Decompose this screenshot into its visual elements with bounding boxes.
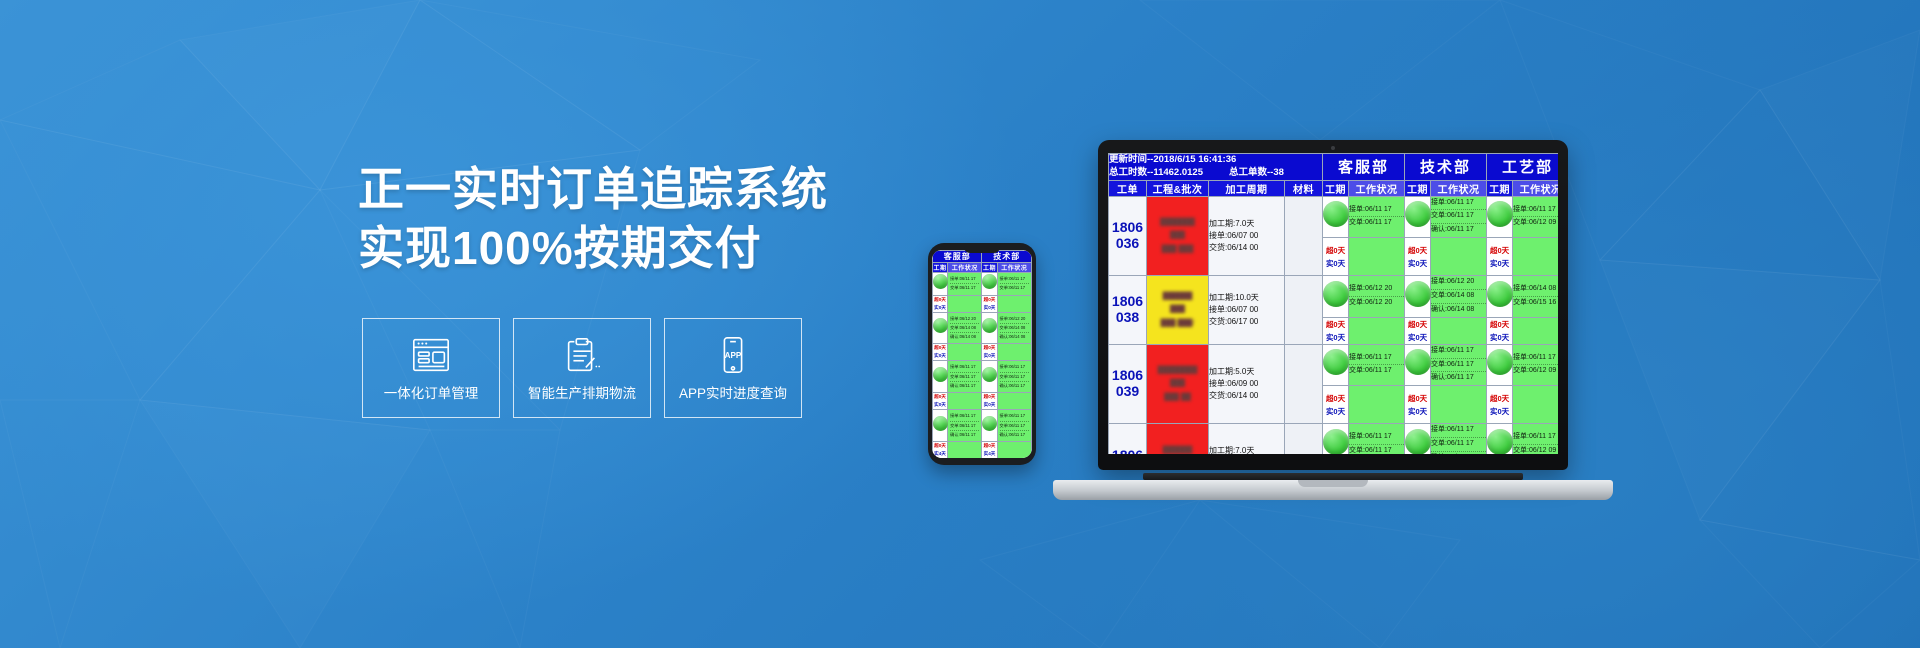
headline-block: 正一实时订单追踪系统 实现100%按期交付 xyxy=(358,160,918,278)
dept-header-0[interactable]: 客服部 xyxy=(1323,154,1405,181)
phone-status-line-1: 交单:06/11 17 xyxy=(1000,422,1029,431)
status-line-0: 接单:06/11 17 xyxy=(1349,204,1404,218)
status-circle-green-icon xyxy=(1487,201,1513,227)
laptop-hinge xyxy=(1143,473,1523,480)
dept-status-cell-1[interactable]: 接单:06/12 20交单:06/14 08确认:06/14 08 xyxy=(1431,276,1487,318)
phone-status-line-2: 确认:06/11 17 xyxy=(1000,382,1029,390)
total-orders-text: 总工单数--38 xyxy=(1229,167,1284,180)
cycle-line-2: 交货:06/14 00 xyxy=(1209,242,1284,254)
dept-status-cell-2[interactable]: 接单:06/11 17交单:06/12 09 xyxy=(1513,424,1558,454)
dept-duration-cell-1[interactable] xyxy=(1405,424,1431,454)
dept-duration-cell-0[interactable] xyxy=(1323,196,1349,238)
phone-status-line-0: 接单:06/11 17 xyxy=(950,275,979,284)
work-order-cell[interactable]: 1806 039 xyxy=(1109,344,1147,424)
headline-line-2: 实现100%按期交付 xyxy=(358,219,918,278)
cycle-line-0: 加工期:7.0天 xyxy=(1209,445,1284,454)
project-batch-cell[interactable]: ████████████ ███/ xyxy=(1147,276,1209,345)
phone-status-line-1: 交单:06/14 08 xyxy=(950,324,979,333)
dept-status-cell-1[interactable]: 接单:06/11 17交单:06/11 17确认:06/11 17 xyxy=(1431,196,1487,238)
laptop-base xyxy=(1053,480,1613,500)
phone-status-line-1: 交单:06/14 08 xyxy=(1000,324,1029,333)
phone-table-row[interactable]: 接单:06/11 17交单:06/11 17确认:06/11 17 接单:06/… xyxy=(933,410,1032,442)
dept-status-cell-0[interactable]: 接单:06/11 17交单:06/11 17 xyxy=(1349,344,1405,386)
dept-status-cell-0[interactable]: 接单:06/12 20交单:06/12 20 xyxy=(1349,276,1405,318)
dept-status-cell-1[interactable]: 接单:06/11 17交单:06/11 17确认:06/11 17 xyxy=(1431,424,1487,454)
phone-status-cell-1[interactable]: 接单:06/11 17交单:06/11 17确认:06/11 17 xyxy=(997,410,1031,442)
actual-days-badge: 实0天 xyxy=(1405,405,1430,418)
status-circle-green-icon xyxy=(982,367,997,382)
status-circle-green-icon xyxy=(1405,349,1431,375)
actual-days-badge: 实0天 xyxy=(1487,331,1512,344)
window-list-icon xyxy=(410,335,452,375)
over-badge-cell-2: 超0天 实0天 xyxy=(1487,317,1513,344)
phone-dashboard: 客服部技术部工期工作状况工期工作状况 接单:06/11 17交单:06/11 1… xyxy=(932,250,1032,458)
processing-cycle-cell[interactable]: 加工期:7.0天接单:06/07 00交货:06/14 00 xyxy=(1209,196,1285,276)
status-line-1: 交单:06/11 17 xyxy=(1431,438,1486,452)
over-days-badge: 超0天 xyxy=(1323,392,1348,405)
laptop-lid: 更新时间--2018/6/15 16:41:36 总工时数--11462.012… xyxy=(1098,140,1568,470)
status-line-1: 交单:06/11 17 xyxy=(1431,359,1486,373)
over-days-badge: 超0天 xyxy=(1323,318,1348,331)
status-line-0: 接单:06/12 20 xyxy=(1349,283,1404,297)
phone-status-line-1: 交单:06/11 17 xyxy=(950,373,979,382)
phone-over-badge-cell-1: 超0天 实4天 xyxy=(982,442,997,458)
status-line-1: 交单:06/11 17 xyxy=(1349,217,1404,230)
status-line-1: 交单:06/15 16 xyxy=(1513,297,1558,310)
phone-duration-cell-1[interactable] xyxy=(982,361,997,393)
status-circle-green-icon xyxy=(982,416,997,431)
over-days-badge: 超0天 xyxy=(1487,244,1512,257)
phone-duration-cell-0[interactable] xyxy=(933,361,948,393)
status-circle-green-icon xyxy=(1487,349,1513,375)
status-line-1: 交单:06/12 20 xyxy=(1349,297,1404,310)
col-header-3[interactable]: 材料 xyxy=(1285,180,1323,196)
phone-over-badge-cell-1: 超0天 实0天 xyxy=(982,344,997,361)
status-circle-green-icon xyxy=(1323,349,1349,375)
col-header-0-1[interactable]: 工作状况 xyxy=(1349,180,1405,196)
cycle-line-2: 交货:06/17 00 xyxy=(1209,316,1284,328)
phone-status-line-0: 接单:06/11 17 xyxy=(950,412,979,421)
status-badge-filler-2 xyxy=(1513,386,1558,424)
work-order-suffix: 039 xyxy=(1109,384,1146,400)
status-circle-green-icon xyxy=(933,274,948,289)
table-row[interactable]: 1806 039 ██████████████ ██ 加工期:5.0天接单:06… xyxy=(1109,344,1559,386)
dept-duration-cell-2[interactable] xyxy=(1487,276,1513,318)
status-line-1: 交单:06/12 09 xyxy=(1513,365,1558,378)
cycle-line-0: 加工期:7.0天 xyxy=(1209,218,1284,230)
project-batch-text: █████████████ ███ xyxy=(1147,212,1208,260)
status-circle-green-icon xyxy=(1487,429,1513,454)
feature-box-list: 一体化订单管理 智能生产排期物流 xyxy=(362,318,802,418)
actual-days-badge: 实0天 xyxy=(1323,331,1348,344)
phone-table-row[interactable]: 接单:06/12 20交单:06/14 08确认:06/14 08 接单:06/… xyxy=(933,312,1032,344)
phone-status-line-0: 接单:06/11 17 xyxy=(1000,275,1029,284)
phone-over-badge-cell-0: 超0天 实0天 xyxy=(933,344,948,361)
status-circle-green-icon xyxy=(933,416,948,431)
project-batch-text: ████████████ ███/ xyxy=(1147,286,1208,334)
project-batch-cell[interactable]: █████████████ ███ xyxy=(1147,196,1209,276)
phone-status-line-1: 交单:06/11 17 xyxy=(1000,373,1029,382)
processing-cycle-cell[interactable]: 加工期:5.0天接单:06/09 00交货:06/14 00 xyxy=(1209,344,1285,424)
phone-status-line-0: 接单:06/11 17 xyxy=(950,363,979,372)
laptop-mockup: 更新时间--2018/6/15 16:41:36 总工时数--11462.012… xyxy=(1053,140,1613,500)
phone-actual-days-badge: 实4天 xyxy=(982,450,996,458)
phone-status-cell-0[interactable]: 接单:06/11 17交单:06/11 17确认:06/11 17 xyxy=(948,361,982,393)
headline-line-1: 正一实时订单追踪系统 xyxy=(358,160,918,219)
work-order-suffix: 038 xyxy=(1109,310,1146,326)
status-circle-green-icon xyxy=(1323,429,1349,454)
phone-col-header-1-1[interactable]: 工作状况 xyxy=(997,263,1031,273)
over-days-badge: 超0天 xyxy=(1405,392,1430,405)
work-order-prefix: 1806 xyxy=(1109,294,1146,310)
over-badge-cell-0: 超0天 实0天 xyxy=(1323,317,1349,344)
status-line-2: 确认:06/11 17 xyxy=(1431,224,1486,237)
status-line-1: 交单:06/12 09 xyxy=(1513,217,1558,230)
dept-duration-cell-1[interactable] xyxy=(1405,344,1431,386)
phone-duration-cell-1[interactable] xyxy=(982,312,997,344)
work-order-prefix: 1806 xyxy=(1109,220,1146,236)
processing-cycle-cell[interactable]: 加工期:7.0天接单:06/08 00交货:06/15 00 xyxy=(1209,424,1285,454)
phone-over-badge-cell-0: 超0天 实4天 xyxy=(933,442,948,458)
status-line-0: 接单:06/12 20 xyxy=(1431,276,1486,290)
over-days-badge: 超0天 xyxy=(1405,318,1430,331)
work-order-prefix: 1806 xyxy=(1109,448,1146,454)
phone-status-line-0: 接单:06/12 20 xyxy=(950,315,979,324)
laptop-base-notch xyxy=(1298,480,1368,487)
phone-actual-days-badge: 实0天 xyxy=(982,401,996,409)
table-row[interactable]: 1806 040 ████████████ ███ 加工期:7.0天接单:06/… xyxy=(1109,424,1559,454)
phone-badge-filler-1 xyxy=(997,344,1031,361)
table-meta-row: 更新时间--2018/6/15 16:41:36 总工时数--11462.012… xyxy=(1109,154,1559,181)
table-column-header-row: 工单工程&批次加工周期材料工期工作状况工期工作状况工期工作状况工期工作状况工期工… xyxy=(1109,180,1559,196)
svg-text:APP: APP xyxy=(725,350,742,359)
promo-banner: 正一实时订单追踪系统 实现100%按期交付 一体化订单管理 xyxy=(0,0,1920,648)
status-line-1: 交单:06/12 09 xyxy=(1513,445,1558,454)
material-cell[interactable] xyxy=(1285,276,1323,345)
phone-actual-days-badge: 实0天 xyxy=(933,352,947,360)
status-badge-filler-0 xyxy=(1349,238,1405,276)
work-order-cell[interactable]: 1806 038 xyxy=(1109,276,1147,345)
processing-cycle-cell[interactable]: 加工期:10.0天接单:06/07 00交货:06/17 00 xyxy=(1209,276,1285,345)
status-circle-green-icon xyxy=(1405,281,1431,307)
dept-duration-cell-0[interactable] xyxy=(1323,344,1349,386)
phone-status-line-1: 交单:06/11 17 xyxy=(950,284,979,292)
dept-duration-cell-2[interactable] xyxy=(1487,344,1513,386)
dept-duration-cell-2[interactable] xyxy=(1487,196,1513,238)
col-header-2-0[interactable]: 工期 xyxy=(1487,180,1513,196)
dept-header-2[interactable]: 工艺部 xyxy=(1487,154,1558,181)
status-line-0: 接单:06/11 17 xyxy=(1349,431,1404,445)
phone-screen: 客服部技术部工期工作状况工期工作状况 接单:06/11 17交单:06/11 1… xyxy=(932,250,1032,458)
phone-status-line-0: 接单:06/11 17 xyxy=(1000,412,1029,421)
status-line-0: 接单:06/11 17 xyxy=(1513,352,1558,366)
over-badge-cell-1: 超0天 实0天 xyxy=(1405,238,1431,276)
actual-days-badge: 实0天 xyxy=(1405,257,1430,270)
phone-badge-filler-0 xyxy=(948,295,982,312)
dept-duration-cell-0[interactable] xyxy=(1323,276,1349,318)
status-circle-green-icon xyxy=(933,367,948,382)
over-badge-cell-1: 超0天 实0天 xyxy=(1405,386,1431,424)
phone-over-days-badge: 超0天 xyxy=(982,344,996,352)
status-circle-green-icon xyxy=(1405,429,1431,454)
phone-duration-cell-0[interactable] xyxy=(933,312,948,344)
phone-over-days-badge: 超0天 xyxy=(982,393,996,401)
phone-over-days-badge: 超0天 xyxy=(933,393,947,401)
status-line-0: 接单:06/11 17 xyxy=(1431,424,1486,438)
cycle-line-1: 接单:06/07 00 xyxy=(1209,230,1284,242)
status-line-2: 确认:06/14 08 xyxy=(1431,304,1486,317)
status-line-1: 交单:06/11 17 xyxy=(1349,445,1404,454)
dept-status-cell-1[interactable]: 接单:06/11 17交单:06/11 17确认:06/11 17 xyxy=(1431,344,1487,386)
phone-over-badge-cell-1: 超0天 实0天 xyxy=(982,295,997,312)
phone-badge-row: 超0天 实0天 超0天 实0天 xyxy=(933,393,1032,410)
phone-status-cell-1[interactable]: 接单:06/11 17交单:06/11 17 xyxy=(997,273,1031,296)
over-badge-cell-0: 超0天 实0天 xyxy=(1323,386,1349,424)
col-header-1-0[interactable]: 工期 xyxy=(1405,180,1431,196)
actual-days-badge: 实0天 xyxy=(1323,257,1348,270)
cycle-line-0: 加工期:10.0天 xyxy=(1209,292,1284,304)
col-header-0[interactable]: 工单 xyxy=(1109,180,1147,196)
feature-label: APP实时进度查询 xyxy=(679,382,787,402)
phone-col-header-1-0[interactable]: 工期 xyxy=(982,263,997,273)
dept-status-cell-2[interactable]: 接单:06/11 17交单:06/12 09 xyxy=(1513,344,1558,386)
phone-over-days-badge: 超0天 xyxy=(933,442,947,450)
phone-badge-row: 超0天 实0天 超0天 实0天 xyxy=(933,344,1032,361)
phone-status-cell-0[interactable]: 接单:06/12 20交单:06/14 08确认:06/14 08 xyxy=(948,312,982,344)
phone-actual-days-badge: 实0天 xyxy=(933,401,947,409)
over-badge-cell-1: 超0天 实0天 xyxy=(1405,317,1431,344)
dept-duration-cell-1[interactable] xyxy=(1405,276,1431,318)
actual-days-badge: 实0天 xyxy=(1487,257,1512,270)
col-header-1-1[interactable]: 工作状况 xyxy=(1431,180,1487,196)
status-badge-filler-0 xyxy=(1349,386,1405,424)
cycle-line-0: 加工期:5.0天 xyxy=(1209,366,1284,378)
phone-badge-filler-0 xyxy=(948,344,982,361)
status-line-0: 接单:06/11 17 xyxy=(1513,204,1558,218)
phone-duration-cell-1[interactable] xyxy=(982,410,997,442)
dept-status-cell-0[interactable]: 接单:06/11 17交单:06/11 17 xyxy=(1349,196,1405,238)
work-order-prefix: 1806 xyxy=(1109,368,1146,384)
phone-badge-filler-1 xyxy=(997,295,1031,312)
project-batch-cell[interactable]: ██████████████ ██ xyxy=(1147,344,1209,424)
work-order-suffix: 036 xyxy=(1109,236,1146,252)
status-line-0: 接单:06/11 17 xyxy=(1513,431,1558,445)
status-line-2: 确认:06/11 17 xyxy=(1431,372,1486,385)
phone-actual-days-badge: 实0天 xyxy=(982,352,996,360)
phone-col-header-0-0[interactable]: 工期 xyxy=(933,263,948,273)
status-circle-green-icon xyxy=(1323,281,1349,307)
dept-status-cell-0[interactable]: 接单:06/11 17交单:06/11 17 xyxy=(1349,424,1405,454)
status-badge-filler-1 xyxy=(1431,386,1487,424)
phone-duration-cell-0[interactable] xyxy=(933,410,948,442)
status-line-1: 交单:06/14 08 xyxy=(1431,290,1486,304)
phone-duration-cell-1[interactable] xyxy=(982,273,997,296)
phone-status-line-2: 确认:06/11 17 xyxy=(1000,431,1029,439)
over-badge-cell-2: 超0天 实0天 xyxy=(1487,238,1513,276)
actual-days-badge: 实0天 xyxy=(1323,405,1348,418)
project-batch-cell[interactable]: ████████████ ███ xyxy=(1147,424,1209,454)
over-badge-cell-0: 超0天 实0天 xyxy=(1323,238,1349,276)
dept-duration-cell-1[interactable] xyxy=(1405,196,1431,238)
clipboard-icon xyxy=(561,335,603,375)
feature-box-app-progress-query[interactable]: APP APP实时进度查询 xyxy=(664,318,802,418)
status-badge-filler-2 xyxy=(1513,317,1558,344)
work-order-cell[interactable]: 1806 036 xyxy=(1109,196,1147,276)
phone-status-cell-0[interactable]: 接单:06/11 17交单:06/11 17确认:06/11 17 xyxy=(948,410,982,442)
phone-over-days-badge: 超0天 xyxy=(933,344,947,352)
status-line-1: 交单:06/11 17 xyxy=(1349,365,1404,378)
phone-badge-row: 超0天 实4天 超0天 实4天 xyxy=(933,442,1032,458)
status-line-0: 接单:06/11 17 xyxy=(1431,345,1486,359)
phone-actual-days-badge: 实4天 xyxy=(933,450,947,458)
phone-over-badge-cell-0: 超0天 实0天 xyxy=(933,295,948,312)
phone-column-header-row: 工期工作状况工期工作状况 xyxy=(933,263,1032,273)
phone-badge-row: 超0天 实0天 超0天 实0天 xyxy=(933,295,1032,312)
phone-over-badge-cell-1: 超0天 实0天 xyxy=(982,393,997,410)
status-line-0: 接单:06/14 08 xyxy=(1513,283,1558,297)
laptop-screen: 更新时间--2018/6/15 16:41:36 总工时数--11462.012… xyxy=(1108,153,1558,454)
phone-duration-cell-0[interactable] xyxy=(933,273,948,296)
phone-status-line-1: 交单:06/11 17 xyxy=(1000,284,1029,292)
status-badge-filler-0 xyxy=(1349,317,1405,344)
phone-order-table[interactable]: 客服部技术部工期工作状况工期工作状况 接单:06/11 17交单:06/11 1… xyxy=(932,250,1032,458)
dept-duration-cell-0[interactable] xyxy=(1323,424,1349,454)
status-line-1: 交单:06/11 17 xyxy=(1431,210,1486,224)
dept-status-cell-2[interactable]: 接单:06/14 08交单:06/15 16 xyxy=(1513,276,1558,318)
actual-days-badge: 实0天 xyxy=(1405,331,1430,344)
project-batch-text: ██████████████ ██ xyxy=(1147,360,1208,408)
dashboard-meta: 更新时间--2018/6/15 16:41:36 总工时数--11462.012… xyxy=(1109,154,1323,181)
status-badge-filler-1 xyxy=(1431,238,1487,276)
phone-status-cell-0[interactable]: 接单:06/11 17交单:06/11 17 xyxy=(948,273,982,296)
phone-table-row[interactable]: 接单:06/11 17交单:06/11 17 接单:06/11 17交单:06/… xyxy=(933,273,1032,296)
phone-status-line-2: 确认:06/11 17 xyxy=(950,431,979,439)
feature-label: 智能生产排期物流 xyxy=(528,382,636,402)
phone-notch xyxy=(964,247,1000,253)
phone-status-line-2: 确认:06/14 08 xyxy=(950,333,979,341)
phone-badge-filler-0 xyxy=(948,442,982,458)
order-tracking-dashboard: 更新时间--2018/6/15 16:41:36 总工时数--11462.012… xyxy=(1108,153,1558,454)
col-header-0-0[interactable]: 工期 xyxy=(1323,180,1349,196)
phone-status-cell-1[interactable]: 接单:06/11 17交单:06/11 17确认:06/11 17 xyxy=(997,361,1031,393)
material-cell[interactable] xyxy=(1285,344,1323,424)
status-circle-green-icon xyxy=(1405,201,1431,227)
status-badge-filler-2 xyxy=(1513,238,1558,276)
dept-header-1[interactable]: 技术部 xyxy=(1405,154,1487,181)
phone-over-days-badge: 超0天 xyxy=(933,296,947,304)
feature-box-order-management[interactable]: 一体化订单管理 xyxy=(362,318,500,418)
phone-col-header-0-1[interactable]: 工作状况 xyxy=(948,263,982,273)
phone-over-days-badge: 超0天 xyxy=(982,296,996,304)
col-header-2[interactable]: 加工周期 xyxy=(1209,180,1285,196)
status-circle-green-icon xyxy=(933,318,948,333)
over-days-badge: 超0天 xyxy=(1487,392,1512,405)
col-header-2-1[interactable]: 工作状况 xyxy=(1513,180,1558,196)
cycle-line-2: 交货:06/14 00 xyxy=(1209,390,1284,402)
table-row[interactable]: 1806 038 ████████████ ███/ 加工期:10.0天接单:0… xyxy=(1109,276,1559,318)
update-time-text: 更新时间--2018/6/15 16:41:36 xyxy=(1109,154,1322,167)
work-order-cell[interactable]: 1806 040 xyxy=(1109,424,1147,454)
cycle-line-1: 接单:06/07 00 xyxy=(1209,304,1284,316)
col-header-1[interactable]: 工程&批次 xyxy=(1147,180,1209,196)
actual-days-badge: 实0天 xyxy=(1487,405,1512,418)
feature-label: 一体化订单管理 xyxy=(384,382,479,402)
status-line-2: 确认:06/11 17 xyxy=(1431,452,1486,454)
phone-mockup: 客服部技术部工期工作状况工期工作状况 接单:06/11 17交单:06/11 1… xyxy=(928,243,1036,465)
over-days-badge: 超0天 xyxy=(1487,318,1512,331)
over-badge-cell-2: 超0天 实0天 xyxy=(1487,386,1513,424)
dept-status-cell-2[interactable]: 接单:06/11 17交单:06/12 09 xyxy=(1513,196,1558,238)
status-circle-green-icon xyxy=(982,274,997,289)
phone-status-cell-1[interactable]: 接单:06/12 20交单:06/14 08确认:06/14 08 xyxy=(997,312,1031,344)
material-cell[interactable] xyxy=(1285,196,1323,276)
status-line-0: 接单:06/11 17 xyxy=(1431,197,1486,211)
material-cell[interactable] xyxy=(1285,424,1323,454)
cycle-line-1: 接单:06/09 00 xyxy=(1209,378,1284,390)
feature-box-production-scheduling[interactable]: 智能生产排期物流 xyxy=(513,318,651,418)
phone-actual-days-badge: 实0天 xyxy=(933,304,947,312)
order-tracking-table[interactable]: 更新时间--2018/6/15 16:41:36 总工时数--11462.012… xyxy=(1108,153,1558,454)
phone-badge-filler-1 xyxy=(997,442,1031,458)
status-line-0: 接单:06/11 17 xyxy=(1349,352,1404,366)
over-days-badge: 超0天 xyxy=(1405,244,1430,257)
phone-badge-filler-1 xyxy=(997,393,1031,410)
phone-over-days-badge: 超0天 xyxy=(982,442,996,450)
phone-badge-filler-0 xyxy=(948,393,982,410)
phone-over-badge-cell-0: 超0天 实0天 xyxy=(933,393,948,410)
phone-status-line-2: 确认:06/14 08 xyxy=(1000,333,1029,341)
phone-actual-days-badge: 实0天 xyxy=(982,304,996,312)
phone-table-row[interactable]: 接单:06/11 17交单:06/11 17确认:06/11 17 接单:06/… xyxy=(933,361,1032,393)
phone-status-line-1: 交单:06/11 17 xyxy=(950,422,979,431)
status-circle-green-icon xyxy=(1487,281,1513,307)
webcam-icon xyxy=(1331,146,1335,150)
table-row[interactable]: 1806 036 █████████████ ███ 加工期:7.0天接单:06… xyxy=(1109,196,1559,238)
status-circle-green-icon xyxy=(1323,201,1349,227)
status-badge-filler-1 xyxy=(1431,317,1487,344)
total-hours-text: 总工时数--11462.0125 xyxy=(1109,167,1203,180)
status-circle-green-icon xyxy=(982,318,997,333)
dept-duration-cell-2[interactable] xyxy=(1487,424,1513,454)
project-batch-text: ████████████ ███ xyxy=(1147,440,1208,454)
phone-status-line-0: 接单:06/12 20 xyxy=(1000,315,1029,324)
over-days-badge: 超0天 xyxy=(1323,244,1348,257)
phone-status-line-2: 确认:06/11 17 xyxy=(950,382,979,390)
mobile-app-icon: APP xyxy=(712,335,754,375)
phone-status-line-0: 接单:06/11 17 xyxy=(1000,363,1029,372)
